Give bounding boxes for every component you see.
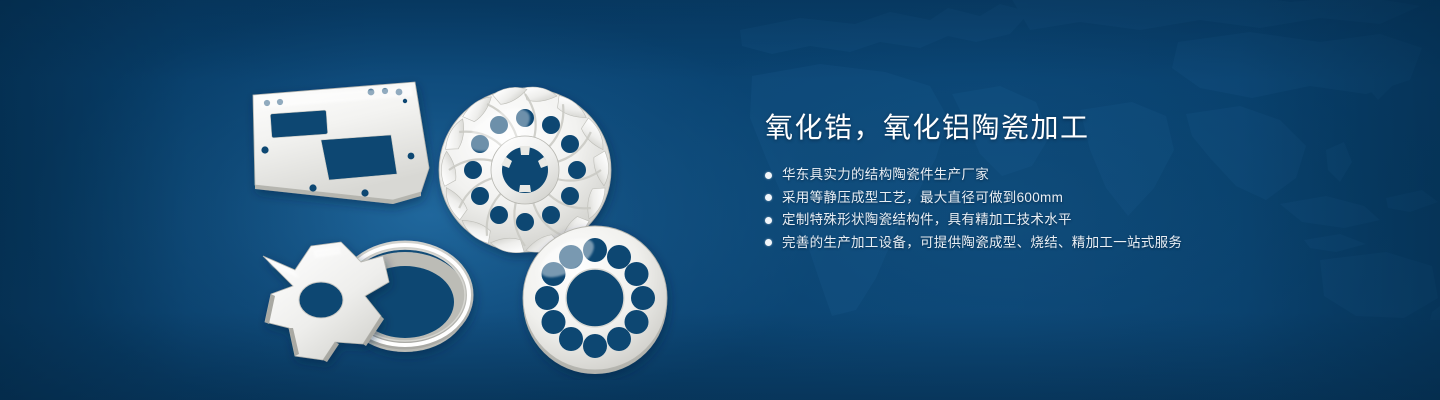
list-item: 完善的生产加工设备，可提供陶瓷成型、烧结、精加工一站式服务 xyxy=(765,232,1365,254)
bullet-dot-icon xyxy=(765,194,772,201)
banner-text-block: 氧化锆，氧化铝陶瓷加工 华东具实力的结构陶瓷件生产厂家 采用等静压成型工艺，最大… xyxy=(765,108,1365,254)
ceramic-cross-part xyxy=(263,242,389,362)
ceramic-perforated-disc-part xyxy=(523,226,667,374)
bullet-dot-icon xyxy=(765,172,772,179)
product-image-group xyxy=(225,40,705,380)
list-item-label: 定制特殊形状陶瓷结构件，具有精加工技术水平 xyxy=(782,209,1072,231)
list-item: 华东具实力的结构陶瓷件生产厂家 xyxy=(765,164,1365,186)
page-title: 氧化锆，氧化铝陶瓷加工 xyxy=(765,108,1365,148)
list-item-label: 华东具实力的结构陶瓷件生产厂家 xyxy=(782,164,989,186)
list-item-label: 完善的生产加工设备，可提供陶瓷成型、烧结、精加工一站式服务 xyxy=(782,232,1182,254)
feature-list: 华东具实力的结构陶瓷件生产厂家 采用等静压成型工艺，最大直径可做到600mm 定… xyxy=(765,164,1365,254)
ceramic-plate-part xyxy=(253,82,429,204)
list-item-label: 采用等静压成型工艺，最大直径可做到600mm xyxy=(782,187,1063,209)
bullet-dot-icon xyxy=(765,239,772,246)
list-item: 采用等静压成型工艺，最大直径可做到600mm xyxy=(765,187,1365,209)
bullet-dot-icon xyxy=(765,217,772,224)
promo-banner: 氧化锆，氧化铝陶瓷加工 华东具实力的结构陶瓷件生产厂家 采用等静压成型工艺，最大… xyxy=(0,0,1440,400)
list-item: 定制特殊形状陶瓷结构件，具有精加工技术水平 xyxy=(765,209,1365,231)
